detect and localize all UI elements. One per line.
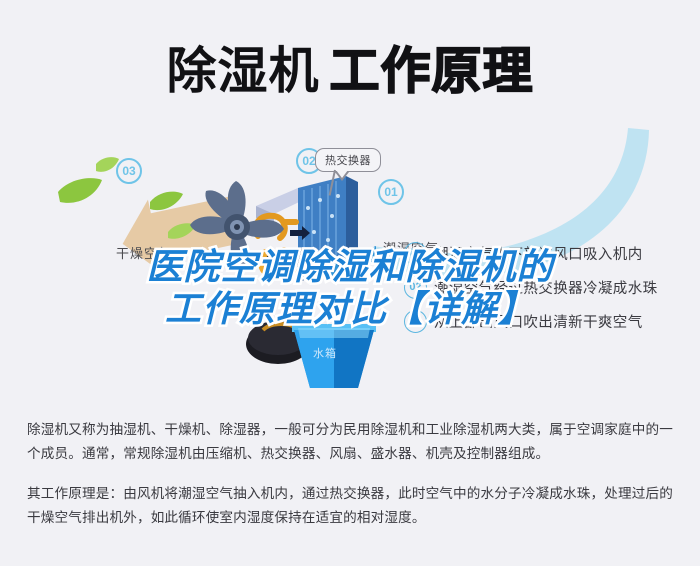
step-number: 03 xyxy=(404,310,427,333)
step-list: 01 潮湿空气由下部进风口吸入机内 02 潮湿空气经过热交换器冷凝成水珠 03 … xyxy=(404,236,694,338)
callout-heat-exchanger: 热交换器 xyxy=(315,148,381,172)
banner-title: 除湿机工作原理 xyxy=(0,40,700,102)
article-body: 除湿机又称为抽湿机、干燥机、除湿器，一般可分为民用除湿机和工业除湿机两大类，属于… xyxy=(27,418,677,546)
banner-title-light: 除湿机 xyxy=(167,43,320,99)
badge-dry-air: 03 xyxy=(116,158,142,184)
step-item: 03 从上部出风口吹出清新干爽空气 xyxy=(404,304,694,338)
step-number: 02 xyxy=(404,276,427,299)
step-item: 02 潮湿空气经过热交换器冷凝成水珠 xyxy=(404,270,694,304)
step-text: 潮湿空气经过热交换器冷凝成水珠 xyxy=(434,277,658,298)
badge-moist-air: 01 xyxy=(378,179,404,205)
article-paragraph-2: 其工作原理是：由风机将潮湿空气抽入机内，通过热交换器，此时空气中的水分子冷凝成水… xyxy=(27,482,677,530)
step-text: 从上部出风口吹出清新干爽空气 xyxy=(434,311,643,332)
step-item: 01 潮湿空气由下部进风口吸入机内 xyxy=(404,236,694,270)
article-paragraph-1: 除湿机又称为抽湿机、干燥机、除湿器，一般可分为民用除湿机和工业除湿机两大类，属于… xyxy=(27,418,677,466)
banner-title-heavy: 工作原理 xyxy=(330,43,534,99)
infographic-banner: 除湿机工作原理 xyxy=(0,0,700,404)
page-root: 除湿机工作原理 xyxy=(0,0,700,566)
step-number: 01 xyxy=(404,242,427,265)
fan-icon xyxy=(182,175,292,280)
label-water-tank: 水箱 xyxy=(313,345,337,361)
label-dry-air: 干燥空气 xyxy=(116,243,172,262)
step-text: 潮湿空气由下部进风口吸入机内 xyxy=(434,243,643,264)
